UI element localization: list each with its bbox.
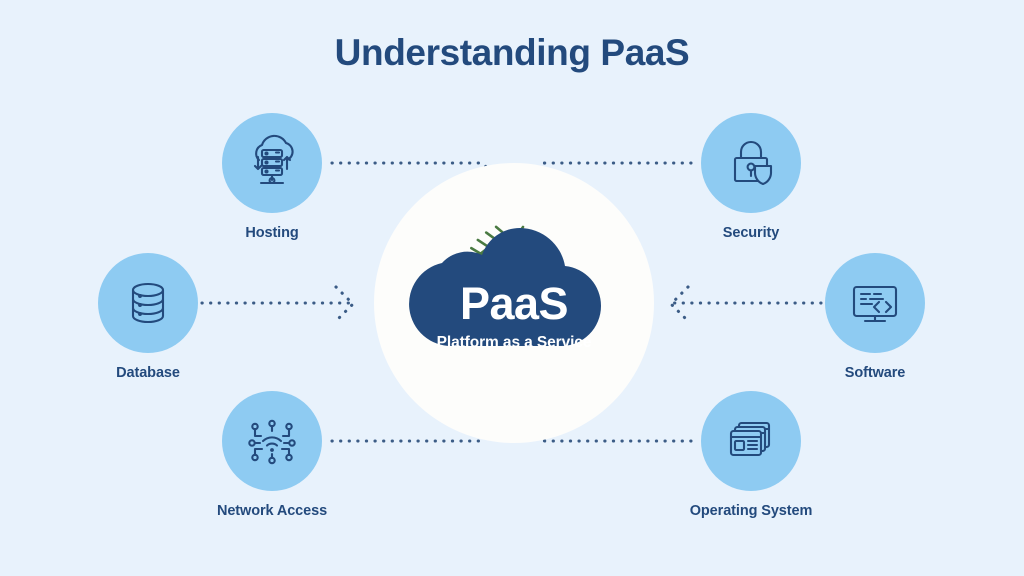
node-security-circle[interactable]	[701, 113, 801, 213]
padlock-shield-icon	[722, 134, 780, 192]
node-network-access-circle[interactable]	[222, 391, 322, 491]
node-software-label: Software	[795, 365, 955, 381]
node-operating-system-circle[interactable]	[701, 391, 801, 491]
node-security[interactable]: Security	[671, 113, 831, 241]
node-hosting-label: Hosting	[192, 225, 352, 241]
node-software[interactable]: Software	[795, 253, 955, 381]
node-hosting-circle[interactable]	[222, 113, 322, 213]
paas-hub: PaaS Platform as a Service	[374, 163, 654, 443]
node-security-label: Security	[671, 225, 831, 241]
database-cylinder-icon	[120, 275, 176, 331]
node-network-access[interactable]: Network Access	[192, 391, 352, 519]
node-database-label: Database	[68, 365, 228, 381]
hub-artwork	[374, 163, 654, 443]
node-hosting[interactable]: Hosting	[192, 113, 352, 241]
node-database[interactable]: Database	[68, 253, 228, 381]
cloud-shape	[409, 228, 601, 346]
infographic-canvas: Understanding PaaS	[0, 0, 1024, 576]
monitor-code-icon	[845, 273, 905, 333]
node-operating-system[interactable]: Operating System	[671, 391, 831, 519]
stacked-windows-icon	[722, 412, 780, 470]
node-network-access-label: Network Access	[192, 503, 352, 519]
node-operating-system-label: Operating System	[671, 503, 831, 519]
node-database-circle[interactable]	[98, 253, 198, 353]
cloud-server-icon	[242, 133, 302, 193]
node-software-circle[interactable]	[825, 253, 925, 353]
network-wifi-nodes-icon	[243, 412, 301, 470]
